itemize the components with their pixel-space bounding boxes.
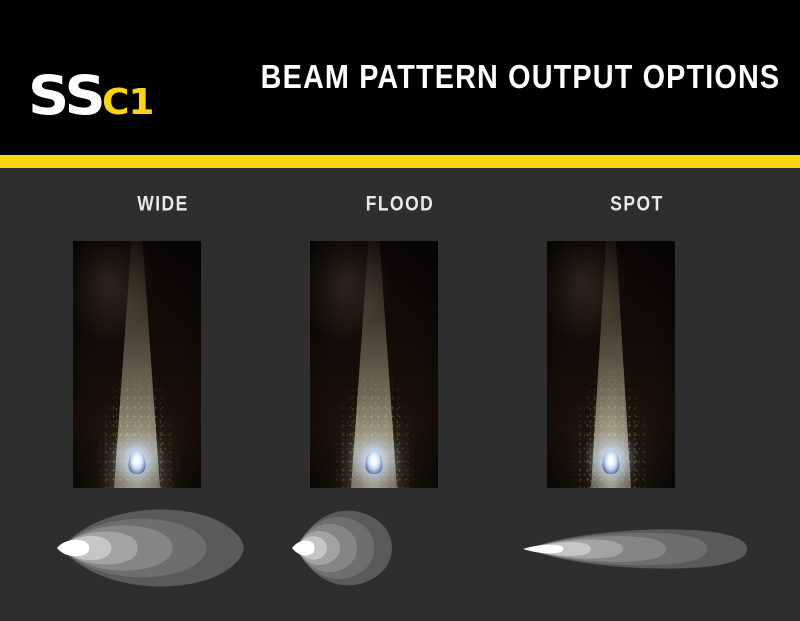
photo-inner: [310, 241, 438, 488]
beam-diagram-spot-svg: [517, 508, 757, 588]
beam-diagram-spot: [517, 508, 757, 588]
content-area: WIDE: [0, 168, 800, 621]
beam-core: [57, 540, 89, 557]
photo-vignette: [547, 241, 675, 488]
header-bar: SS C1 BEAM PATTERN OUTPUT OPTIONS: [0, 0, 800, 155]
column-spot: SPOT: [517, 168, 757, 621]
beam-diagram-flood-svg: [280, 508, 520, 588]
column-wide: WIDE: [43, 168, 283, 621]
column-label-flood: FLOOD: [290, 193, 511, 217]
beam-photo-flood: [310, 241, 438, 488]
beam-diagram-wide: [43, 508, 283, 588]
logo-secondary-text: C1: [102, 85, 153, 121]
page-title: BEAM PATTERN OUTPUT OPTIONS: [260, 58, 780, 96]
accent-divider: [0, 155, 800, 168]
column-label-wide: WIDE: [53, 193, 274, 217]
photo-vignette: [73, 241, 201, 488]
beam-core: [292, 540, 315, 555]
logo-primary-text: SS: [28, 69, 104, 123]
header-title: BEAM PATTERN OUTPUT OPTIONS: [290, 0, 780, 155]
brand-logo: SS C1: [28, 69, 152, 125]
beam-diagram-flood: [280, 508, 520, 588]
photo-inner: [547, 241, 675, 488]
beam-photo-wide: [73, 241, 201, 488]
beam-pattern-infographic: SS C1 BEAM PATTERN OUTPUT OPTIONS WIDE: [0, 0, 800, 621]
beam-core: [523, 545, 563, 553]
beam-photo-spot: [547, 241, 675, 488]
beam-diagram-wide-svg: [43, 508, 283, 588]
column-flood: FLOOD: [280, 168, 520, 621]
photo-inner: [73, 241, 201, 488]
column-label-spot: SPOT: [527, 193, 748, 217]
photo-vignette: [310, 241, 438, 488]
